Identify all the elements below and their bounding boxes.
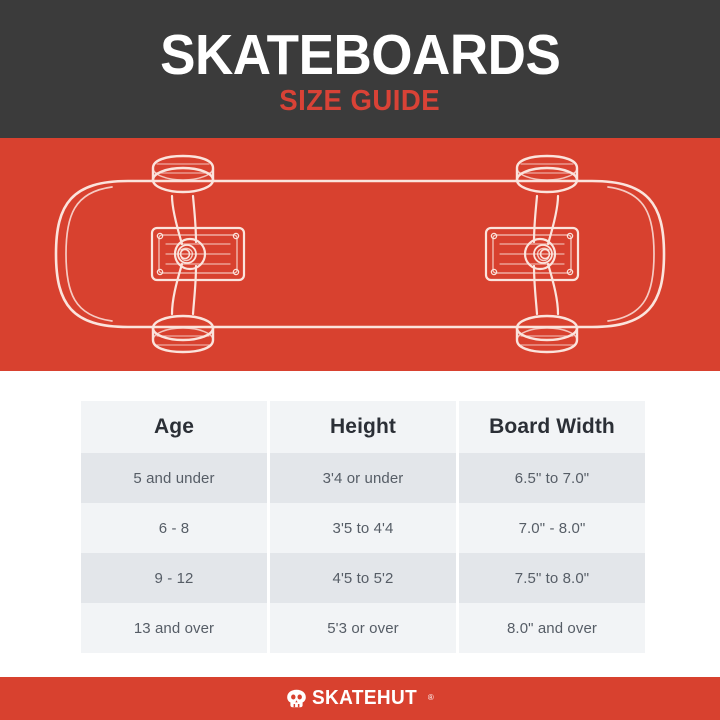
cell-age: 6 - 8 [81,503,267,553]
column-header-board-width: Board Width [459,401,645,453]
skateboard-illustration [0,138,720,371]
cell-age: 13 and over [81,603,267,653]
column-header-height: Height [270,401,456,453]
table-body: 5 and under 3'4 or under 6.5" to 7.0" 6 … [81,453,645,653]
header-band: SKATEBOARDS SIZE GUIDE [0,0,720,138]
cell-board-width: 7.0" - 8.0" [459,503,645,553]
table-row: 13 and over 5'3 or over 8.0" and over [81,603,645,653]
cell-board-width: 7.5" to 8.0" [459,553,645,603]
cell-height: 3'4 or under [270,453,456,503]
page-title: SKATEBOARDS [160,26,560,84]
cell-board-width: 6.5" to 7.0" [459,453,645,503]
cell-age: 9 - 12 [81,553,267,603]
cell-height: 3'5 to 4'4 [270,503,456,553]
cell-age: 5 and under [81,453,267,503]
cell-height: 5'3 or over [270,603,456,653]
column-header-age: Age [81,401,267,453]
size-guide-table: Age Height Board Width 5 and under 3'4 o… [78,401,648,653]
cell-board-width: 8.0" and over [459,603,645,653]
skatehut-skull-icon [286,689,307,708]
size-table-wrapper: Age Height Board Width 5 and under 3'4 o… [78,401,642,653]
table-row: 6 - 8 3'5 to 4'4 7.0" - 8.0" [81,503,645,553]
cell-height: 4'5 to 5'2 [270,553,456,603]
table-row: 9 - 12 4'5 to 5'2 7.5" to 8.0" [81,553,645,603]
brand-name: SKATEHUT [312,687,417,710]
skateboard-size-guide-poster: SKATEBOARDS SIZE GUIDE [0,0,720,720]
registered-trademark-mark: ® [428,693,434,702]
table-row: 5 and under 3'4 or under 6.5" to 7.0" [81,453,645,503]
brand-logo: SKATEHUT ® [286,687,434,710]
table-header-row: Age Height Board Width [81,401,645,453]
footer-band: SKATEHUT ® [0,677,720,720]
table-header: Age Height Board Width [81,401,645,453]
hero-band [0,138,720,371]
page-subtitle: SIZE GUIDE [280,86,441,116]
